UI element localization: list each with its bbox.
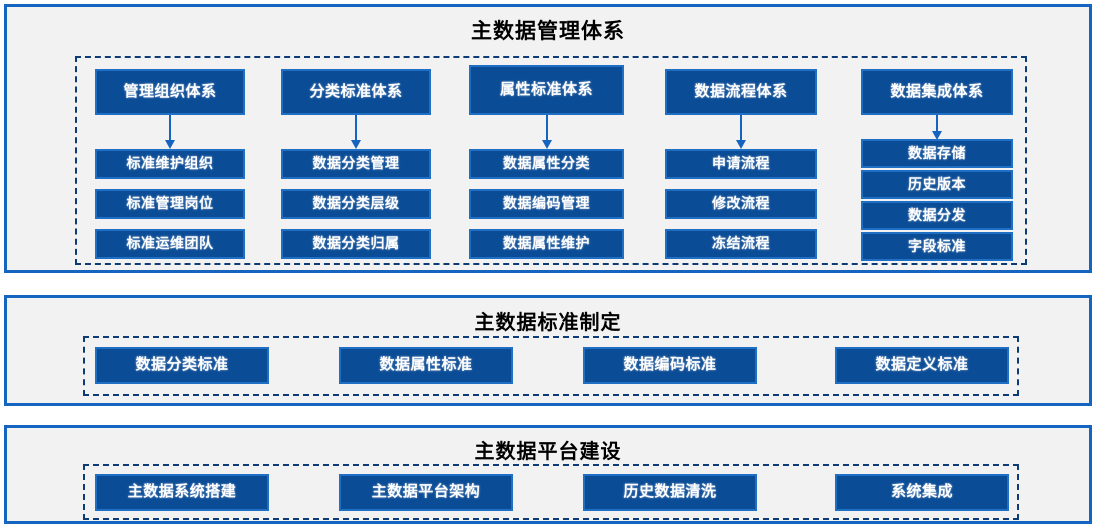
node-col1-item-0[interactable]: 标准维护组织 [95, 149, 245, 179]
node-col2-item-0[interactable]: 数据分类管理 [281, 149, 431, 179]
node-col5-item-1[interactable]: 历史版本 [861, 170, 1013, 199]
node-col3-item-1[interactable]: 数据编码管理 [469, 189, 624, 219]
node-standard-item-0[interactable]: 数据分类标准 [95, 347, 269, 384]
node-standard-item-3[interactable]: 数据定义标准 [835, 347, 1009, 384]
node-col5-item-3[interactable]: 字段标准 [861, 232, 1013, 261]
node-standard-item-1[interactable]: 数据属性标准 [339, 347, 513, 384]
node-col4-item-1[interactable]: 修改流程 [665, 189, 817, 219]
arrow-col2 [355, 115, 357, 141]
section-2-title: 主数据标准制定 [7, 306, 1089, 335]
section-master-data-management-system: 主数据管理体系 管理组织体系 标准维护组织 标准管理岗位 标准运维团队 分类标准… [4, 4, 1092, 273]
node-col5-header[interactable]: 数据集成体系 [861, 69, 1013, 115]
node-col1-item-2[interactable]: 标准运维团队 [95, 229, 245, 259]
node-col1-item-1[interactable]: 标准管理岗位 [95, 189, 245, 219]
node-col5-item-0[interactable]: 数据存储 [861, 139, 1013, 168]
node-col3-header[interactable]: 属性标准体系 [469, 65, 624, 115]
node-col4-item-2[interactable]: 冻结流程 [665, 229, 817, 259]
node-platform-item-1[interactable]: 主数据平台架构 [339, 474, 513, 511]
section-1-title: 主数据管理体系 [7, 15, 1089, 45]
node-col2-header[interactable]: 分类标准体系 [281, 69, 431, 115]
arrow-col3 [546, 115, 548, 141]
arrow-col1 [169, 115, 171, 141]
node-platform-item-0[interactable]: 主数据系统搭建 [95, 474, 269, 511]
arrow-col5 [936, 115, 938, 132]
node-platform-item-2[interactable]: 历史数据清洗 [583, 474, 757, 511]
node-col2-item-1[interactable]: 数据分类层级 [281, 189, 431, 219]
node-col5-item-2[interactable]: 数据分发 [861, 201, 1013, 230]
arrow-col4 [740, 115, 742, 141]
node-standard-item-2[interactable]: 数据编码标准 [583, 347, 757, 384]
node-col4-item-0[interactable]: 申请流程 [665, 149, 817, 179]
node-col2-item-2[interactable]: 数据分类归属 [281, 229, 431, 259]
node-col1-header[interactable]: 管理组织体系 [95, 69, 245, 115]
node-col4-header[interactable]: 数据流程体系 [665, 69, 817, 115]
node-col3-item-2[interactable]: 数据属性维护 [469, 229, 624, 259]
node-col3-item-0[interactable]: 数据属性分类 [469, 149, 624, 179]
section-master-data-platform-construction: 主数据平台建设 主数据系统搭建 主数据平台架构 历史数据清洗 系统集成 [4, 425, 1092, 524]
node-platform-item-3[interactable]: 系统集成 [835, 474, 1009, 511]
section-3-title: 主数据平台建设 [7, 435, 1089, 464]
section-master-data-standard-definition: 主数据标准制定 数据分类标准 数据属性标准 数据编码标准 数据定义标准 [4, 295, 1092, 406]
diagram-canvas: 主数据管理体系 管理组织体系 标准维护组织 标准管理岗位 标准运维团队 分类标准… [0, 0, 1096, 528]
